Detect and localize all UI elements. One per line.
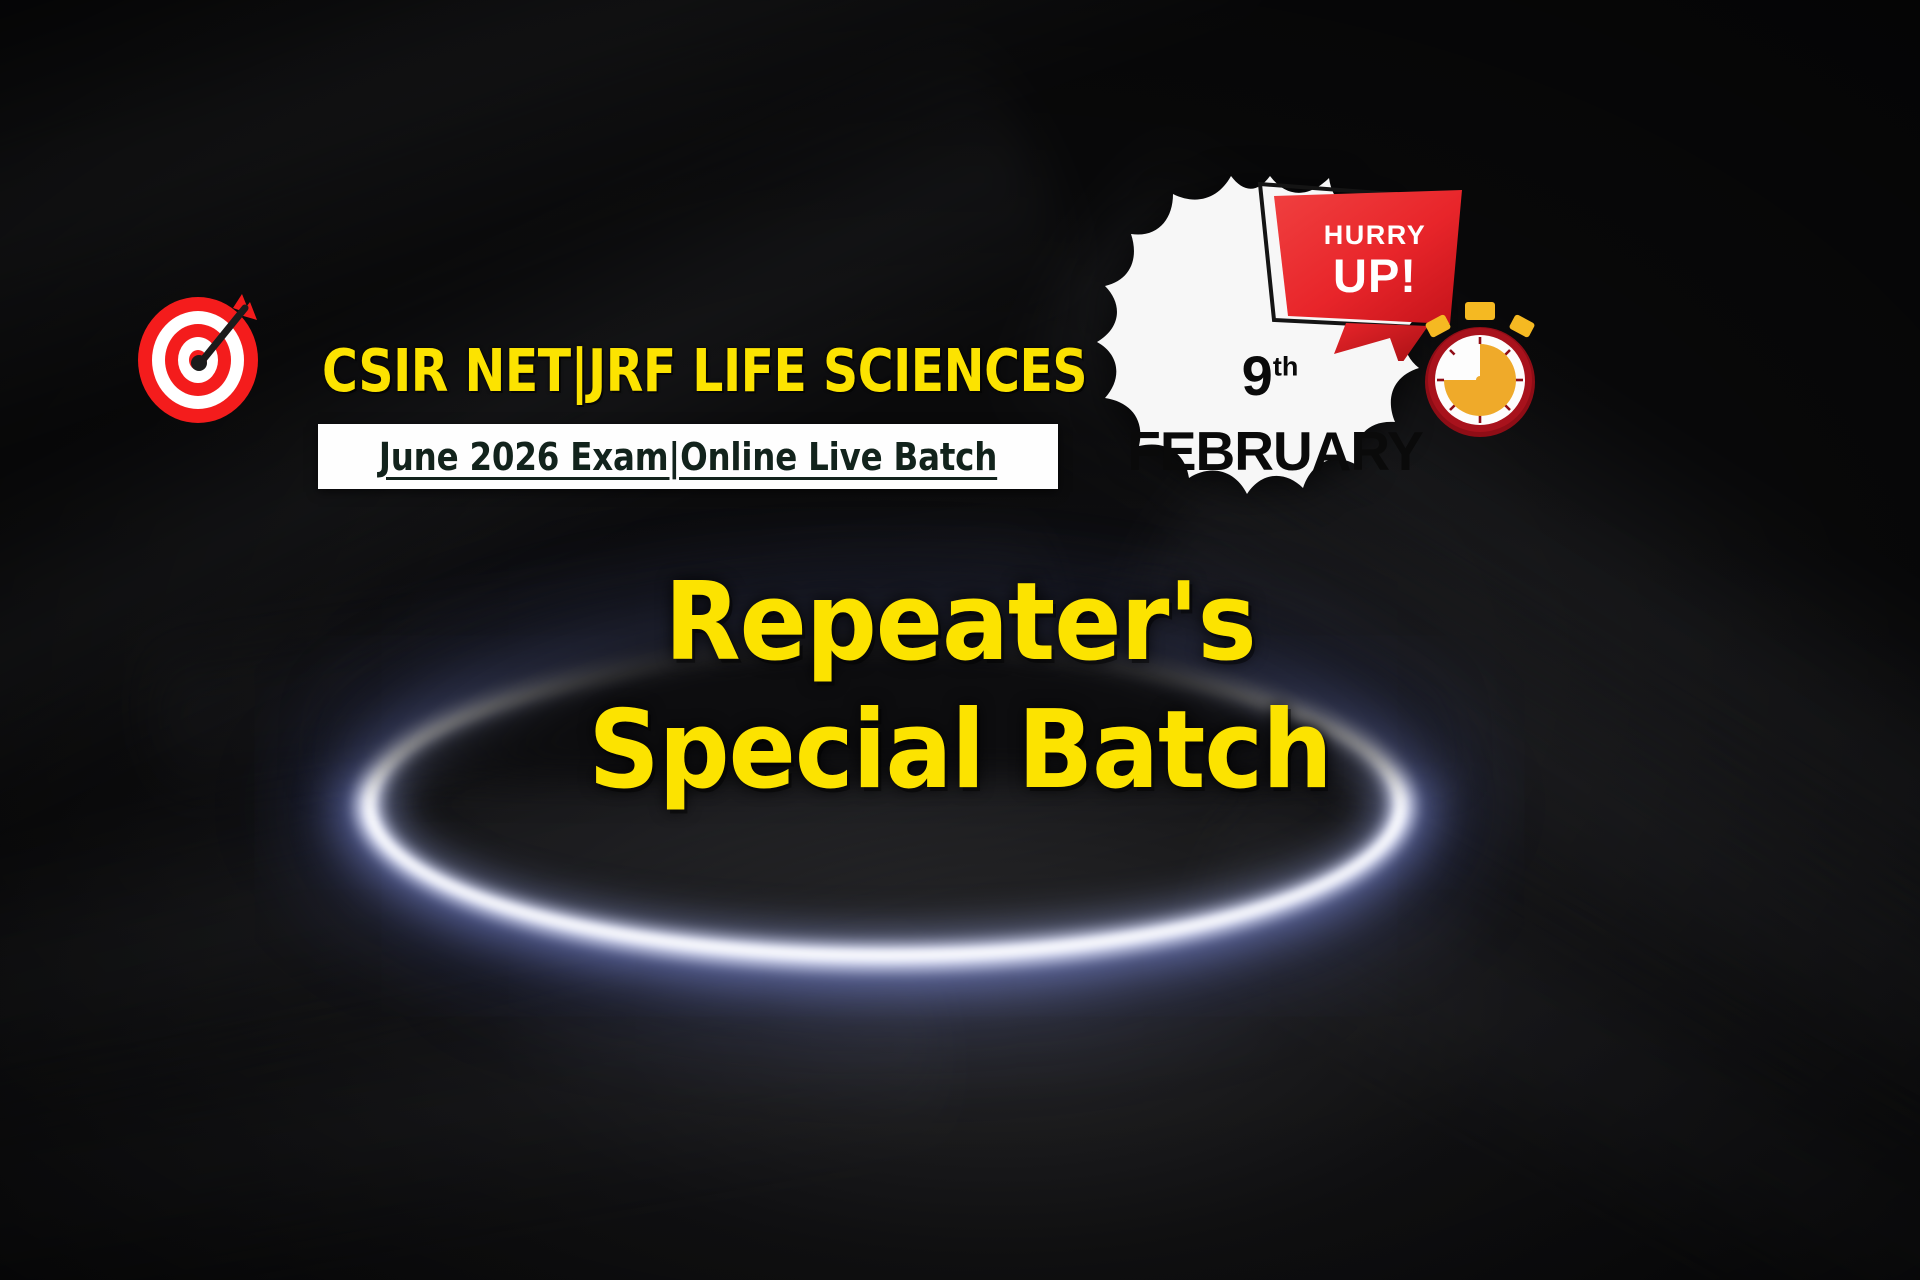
subtitle-text: June 2026 Exam|Online Live Batch	[337, 424, 1040, 489]
main-title-line-1: Repeater's	[0, 572, 1920, 675]
date-month: FEBRUARY	[1110, 424, 1440, 479]
main-title-line-2: Special Batch	[0, 700, 1920, 803]
promo-banner: CSIR NET|JRF LIFE SCIENCES June 2026 Exa…	[0, 0, 1920, 1280]
page-title: CSIR NET|JRF LIFE SCIENCES	[322, 336, 1087, 405]
stopwatch-icon	[1415, 300, 1545, 440]
subtitle-box: June 2026 Exam|Online Live Batch	[318, 424, 1058, 489]
target-bullseye-arrow-icon	[132, 282, 277, 427]
